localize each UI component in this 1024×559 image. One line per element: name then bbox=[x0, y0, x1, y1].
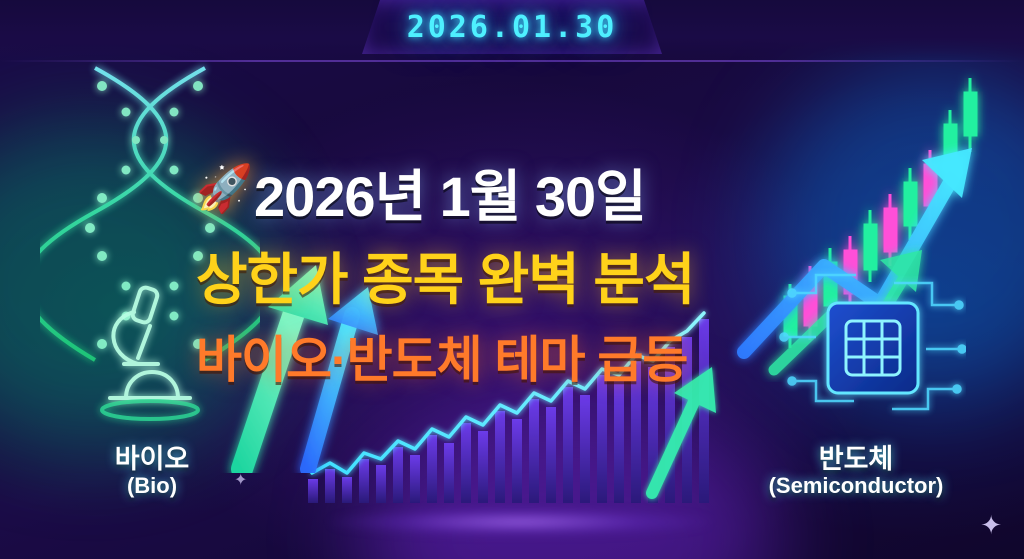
label-semiconductor-ko: 반도체 bbox=[706, 444, 1006, 474]
date-display: 2026.01.30 bbox=[407, 10, 618, 45]
stage-floor-glow bbox=[330, 509, 710, 535]
sparkle-icon: ✦ bbox=[980, 510, 1002, 541]
label-bio-en: (Bio) bbox=[42, 474, 262, 499]
title-line-2: 상한가 종목 완벽 분석 bbox=[196, 235, 846, 316]
title-block: 🚀 2026년 1월 30일 상한가 종목 완벽 분석 바이오·반도체 테마 급… bbox=[196, 152, 846, 392]
sparkle-icon: ✦ bbox=[234, 470, 247, 490]
rocket-icon: 🚀 bbox=[196, 158, 256, 218]
title-line-1: 2026년 1월 30일 bbox=[254, 152, 846, 233]
label-semiconductor: 반도체 (Semiconductor) bbox=[706, 444, 1006, 499]
label-semiconductor-en: (Semiconductor) bbox=[706, 474, 1006, 499]
title-line-3: 바이오·반도체 테마 급등 bbox=[196, 320, 846, 392]
thumbnail-canvas: 2026.01.30 bbox=[0, 0, 1024, 559]
